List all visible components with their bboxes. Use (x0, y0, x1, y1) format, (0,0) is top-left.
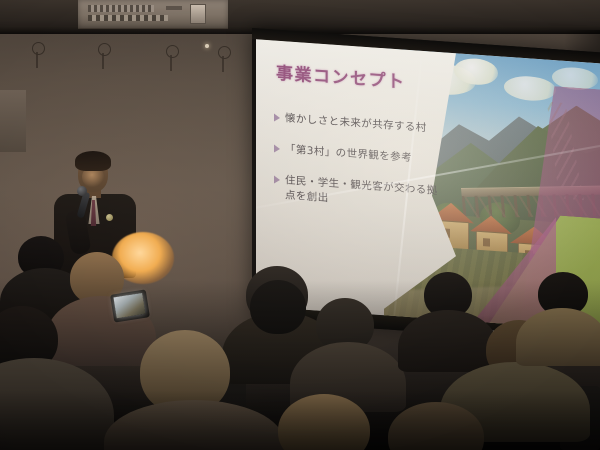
bullet-triangle-icon (274, 176, 280, 184)
ceiling-hook-icon (98, 43, 111, 56)
wall-control-panel (78, 0, 228, 29)
slide-bullet-item: 「第3村」の世界観を参考 (274, 142, 444, 168)
ceiling-hook-icon (166, 45, 179, 58)
presenter-hair (75, 151, 111, 171)
slide-bullet-list: 懐かしさと未来が共存する村 「第3村」の世界観を参考 住民・学生・観光客が交わる… (274, 111, 444, 231)
bullet-triangle-icon (274, 145, 280, 153)
ceiling-hook-icon (218, 46, 231, 59)
panel-grid-top (88, 5, 154, 12)
house-window (483, 238, 490, 246)
panel-led (190, 4, 206, 24)
panel-indicator-strip (166, 6, 182, 10)
panel-grid-bottom (88, 15, 168, 21)
tablet-screen (113, 293, 145, 318)
microphone-head-icon (77, 186, 87, 196)
bullet-triangle-icon (274, 114, 280, 122)
wall-plate (0, 90, 26, 152)
slide-bullet-item: 住民・学生・観光客が交わる拠点を創出 (274, 173, 444, 213)
ceiling-hook-icon (32, 42, 45, 55)
ceiling-light-dot (205, 44, 209, 48)
audience-head (250, 280, 306, 334)
bullet-text: 住民・学生・観光客が交わる拠点を創出 (285, 174, 444, 213)
presenter-lapel-badge (106, 214, 113, 221)
bullet-text: 「第3村」の世界観を参考 (285, 142, 412, 165)
tablet-device[interactable] (110, 289, 150, 322)
presentation-photo-scene: 事業コンセプト 懐かしさと未来が共存する村 「第3村」の世界観を参考 住民・学生… (0, 0, 600, 450)
